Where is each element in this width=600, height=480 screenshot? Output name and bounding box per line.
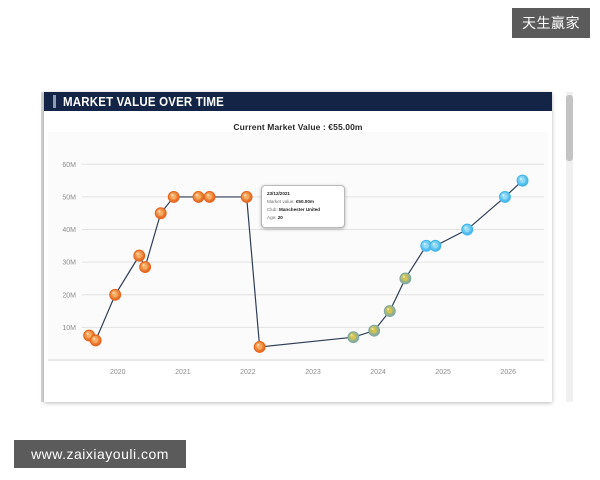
- tooltip-club-label: Club:: [267, 207, 278, 212]
- tooltip-market-value: €50.00m: [296, 199, 314, 204]
- tooltip-club: Manchester United: [279, 207, 320, 212]
- club-crest-highlight: [171, 194, 173, 196]
- watermark-top-right-text: 天生赢家: [522, 13, 580, 33]
- club-crest-highlight: [371, 328, 373, 330]
- club-crest-highlight: [86, 333, 88, 335]
- club-crest-highlight: [387, 308, 389, 310]
- data-point-marker[interactable]: [168, 192, 179, 203]
- watermark-top-right: 天生赢家: [512, 8, 590, 38]
- data-point-marker[interactable]: [462, 224, 473, 235]
- data-point-marker[interactable]: [155, 208, 166, 219]
- header-accent-bar: [53, 95, 56, 108]
- card-header: MARKET VALUE OVER TIME: [44, 92, 552, 111]
- data-point-marker[interactable]: [254, 342, 265, 353]
- x-axis-tick-label: 2024: [370, 369, 386, 376]
- watermark-bottom-left-text: www.zaixiayouli.com: [31, 446, 169, 462]
- tooltip-market-value-row: Market value: €50.00m: [267, 198, 339, 206]
- data-point-marker[interactable]: [348, 332, 359, 343]
- club-crest-highlight: [351, 334, 353, 336]
- tooltip-date: 23/12/2021: [267, 190, 339, 198]
- x-axis-tick-label: 2026: [500, 369, 516, 376]
- club-crest-highlight: [142, 264, 144, 266]
- y-axis-tick-label: 40M: [62, 227, 76, 234]
- x-axis-tick-label: 2022: [240, 369, 256, 376]
- market-value-line-chart[interactable]: 10M20M30M40M50M60M2020202120222023202420…: [44, 132, 552, 394]
- club-crest-highlight: [137, 253, 139, 255]
- data-point-marker[interactable]: [241, 192, 252, 203]
- market-value-card: MARKET VALUE OVER TIME Current Market Va…: [44, 92, 552, 402]
- data-point-marker[interactable]: [369, 325, 380, 336]
- y-axis-tick-label: 10M: [62, 325, 76, 332]
- y-axis-tick-label: 50M: [62, 194, 76, 201]
- club-crest-highlight: [465, 227, 467, 229]
- club-crest-highlight: [207, 194, 209, 196]
- data-point-marker[interactable]: [90, 335, 101, 346]
- x-axis-tick-label: 2021: [175, 369, 191, 376]
- x-axis-tick-label: 2025: [435, 369, 451, 376]
- data-point-marker[interactable]: [134, 250, 145, 261]
- data-point-marker[interactable]: [384, 306, 395, 317]
- page-title: MARKET VALUE OVER TIME: [63, 95, 224, 109]
- data-point-marker[interactable]: [517, 175, 528, 186]
- club-crest-highlight: [244, 194, 246, 196]
- data-point-marker[interactable]: [204, 192, 215, 203]
- data-point-marker[interactable]: [500, 192, 511, 203]
- data-point-marker[interactable]: [140, 262, 151, 273]
- y-axis-tick-label: 30M: [62, 260, 76, 267]
- club-crest-highlight: [93, 338, 95, 340]
- vertical-scrollbar-thumb[interactable]: [566, 95, 573, 161]
- club-crest-highlight: [112, 292, 114, 294]
- tooltip-age-label: Age:: [267, 215, 276, 220]
- club-crest-highlight: [196, 194, 198, 196]
- data-point-marker[interactable]: [400, 273, 411, 284]
- data-point-marker[interactable]: [193, 192, 204, 203]
- club-crest-highlight: [424, 243, 426, 245]
- club-crest-highlight: [257, 344, 259, 346]
- club-crest-highlight: [433, 243, 435, 245]
- club-crest-highlight: [502, 194, 504, 196]
- chart-subtitle: Current Market Value : €55.00m: [44, 122, 552, 132]
- x-axis-tick-label: 2020: [110, 369, 126, 376]
- tooltip-age-row: Age: 20: [267, 214, 339, 222]
- chart-plot-area[interactable]: 10M20M30M40M50M60M2020202120222023202420…: [44, 132, 552, 394]
- tooltip-club-row: Club: Manchester United: [267, 206, 339, 214]
- tooltip-market-value-label: Market value:: [267, 199, 295, 204]
- data-point-marker[interactable]: [110, 289, 121, 300]
- club-crest-highlight: [158, 210, 160, 212]
- x-axis-tick-label: 2023: [305, 369, 321, 376]
- tooltip-age: 20: [278, 215, 283, 220]
- club-crest-highlight: [403, 276, 405, 278]
- watermark-bottom-left: www.zaixiayouli.com: [14, 440, 186, 468]
- club-crest-highlight: [520, 178, 522, 180]
- y-axis-tick-label: 20M: [62, 292, 76, 299]
- y-axis-tick-label: 60M: [62, 162, 76, 169]
- chart-tooltip: 23/12/2021 Market value: €50.00m Club: M…: [261, 185, 345, 228]
- data-point-marker[interactable]: [430, 240, 441, 251]
